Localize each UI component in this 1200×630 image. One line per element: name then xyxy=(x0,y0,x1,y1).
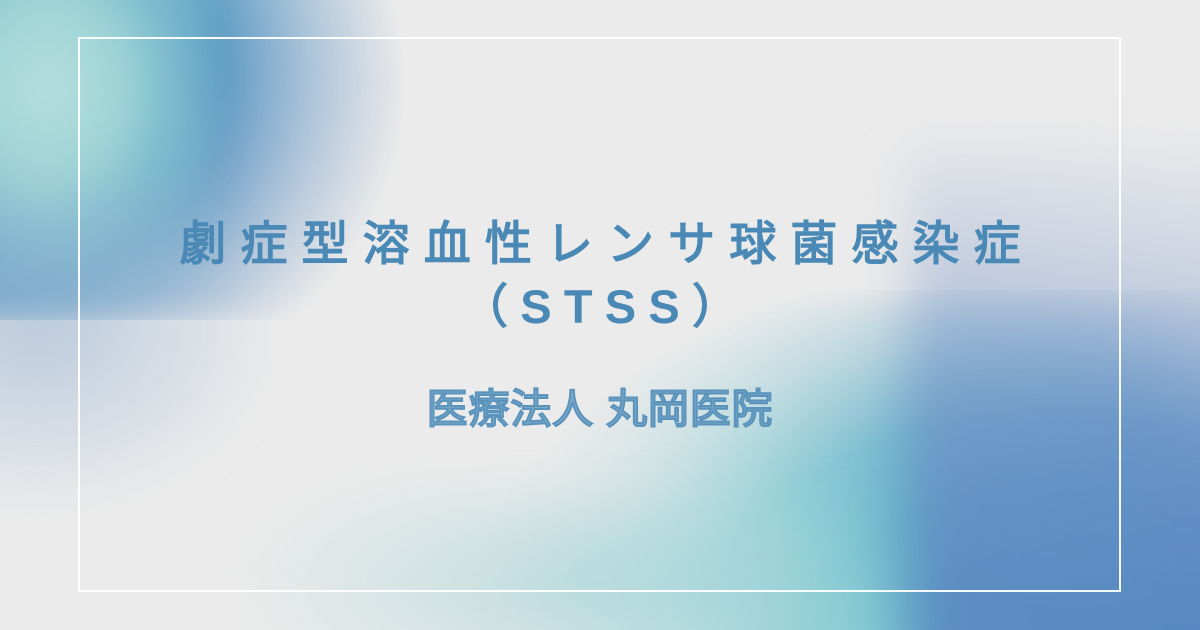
hero-content: 劇症型溶血性レンサ球菌感染症 （STSS） 医療法人 丸岡医院 xyxy=(0,0,1200,630)
page-title-line-2: （STSS） xyxy=(165,276,1035,339)
hero-card: 劇症型溶血性レンサ球菌感染症 （STSS） 医療法人 丸岡医院 xyxy=(0,0,1200,630)
page-title: 劇症型溶血性レンサ球菌感染症 （STSS） xyxy=(165,213,1035,339)
organization-name: 医療法人 丸岡医院 xyxy=(427,385,774,434)
page-title-line-1: 劇症型溶血性レンサ球菌感染症 xyxy=(165,213,1035,276)
